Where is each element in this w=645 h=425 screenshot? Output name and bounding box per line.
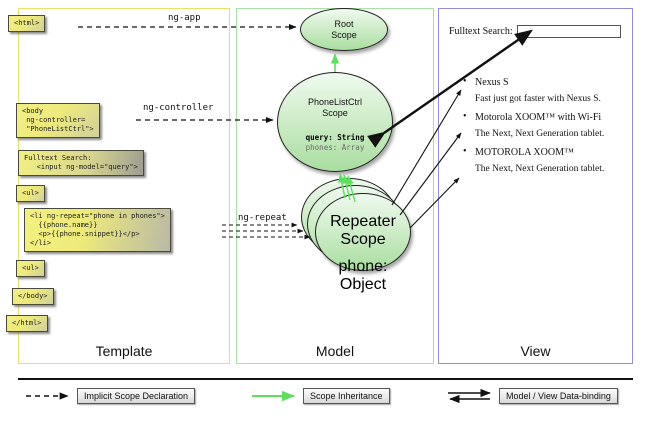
legend-item-scope-inheritance: Scope Inheritance [252, 388, 390, 404]
repeater-scope-node-front: Repeater Scope phone: Object [315, 193, 411, 271]
column-template: Template [18, 8, 230, 364]
list-item: Motorola XOOM™ with Wi-Fi The Next, Next… [461, 112, 624, 139]
code-block-ul-close: <ul> [16, 260, 45, 277]
legend-symbol-double-arrow [448, 388, 494, 404]
ctrl-scope-title-line2: Scope [278, 108, 392, 119]
root-scope-title-line1: Root [334, 19, 353, 30]
list-item: Nexus S Fast just got faster with Nexus … [461, 77, 624, 104]
phone-name: Nexus S [461, 77, 624, 88]
view-phone-list: Nexus S Fast just got faster with Nexus … [461, 77, 624, 182]
legend-symbol-dashed-arrow [26, 388, 72, 404]
ctrl-scope-property-phones: phones: Array [278, 143, 392, 153]
phone-snippet: Fast just got faster with Nexus S. [461, 94, 624, 104]
column-title-model: Model [237, 343, 433, 359]
code-block-fulltext-search: Fulltext Search: <input ng-model="query"… [18, 150, 144, 176]
code-block-html-close: </html> [6, 315, 48, 332]
phonelistctrl-scope-node: PhoneListCtrl Scope query: String phones… [277, 72, 393, 172]
edge-label-ng-repeat: ng-repeat [238, 213, 287, 223]
repeater-scope-title-line2: Scope [316, 231, 410, 249]
code-block-body-open: <body ng-controller= "PhoneListCtrl"> [16, 103, 100, 138]
phone-name: MOTOROLA XOOM™ [461, 147, 624, 158]
list-item: MOTOROLA XOOM™ The Next, Next Generation… [461, 147, 624, 174]
view-search-input[interactable] [517, 25, 621, 38]
edge-label-ng-app: ng-app [168, 13, 201, 23]
repeater-scope-stack: Repeater Scope phone: Object [301, 178, 421, 278]
phone-snippet: The Next, Next Generation tablet. [461, 164, 624, 174]
legend-label: Scope Inheritance [303, 388, 390, 404]
column-title-view: View [439, 343, 632, 359]
code-block-li-ng-repeat: <li ng-repeat="phone in phones"> {{phone… [24, 208, 171, 252]
repeater-scope-property-phone: phone: Object [316, 258, 410, 294]
phone-snippet: The Next, Next Generation tablet. [461, 129, 624, 139]
legend-item-implicit-scope-declaration: Implicit Scope Declaration [26, 388, 195, 404]
view-search-row: Fulltext Search: [449, 25, 621, 38]
column-view: Fulltext Search: Nexus S Fast just got f… [438, 8, 633, 364]
legend-divider [18, 378, 633, 380]
code-block-body-close: </body> [12, 288, 54, 305]
edge-label-ng-controller: ng-controller [143, 103, 213, 113]
ctrl-scope-title-line1: PhoneListCtrl [278, 97, 392, 108]
legend: Implicit Scope Declaration Scope Inherit… [18, 386, 633, 414]
legend-symbol-green-arrow [252, 388, 298, 404]
root-scope-node: Root Scope [300, 8, 388, 51]
column-title-template: Template [19, 343, 229, 359]
legend-item-model-view-data-binding: Model / View Data-binding [448, 388, 618, 404]
view-search-label: Fulltext Search: [449, 26, 513, 37]
code-block-ul-open: <ul> [16, 185, 45, 202]
legend-label: Model / View Data-binding [499, 388, 618, 404]
legend-label: Implicit Scope Declaration [77, 388, 195, 404]
view-rendered-page: Fulltext Search: Nexus S Fast just got f… [443, 15, 628, 337]
phone-name: Motorola XOOM™ with Wi-Fi [461, 112, 624, 123]
repeater-scope-title-line1: Repeater [316, 213, 410, 231]
angularjs-scope-diagram: Template <html> <body ng-controller= "Ph… [0, 0, 645, 425]
code-block-html-open: <html> [8, 15, 45, 32]
root-scope-title-line2: Scope [331, 30, 357, 41]
ctrl-scope-property-query: query: String [278, 133, 392, 143]
